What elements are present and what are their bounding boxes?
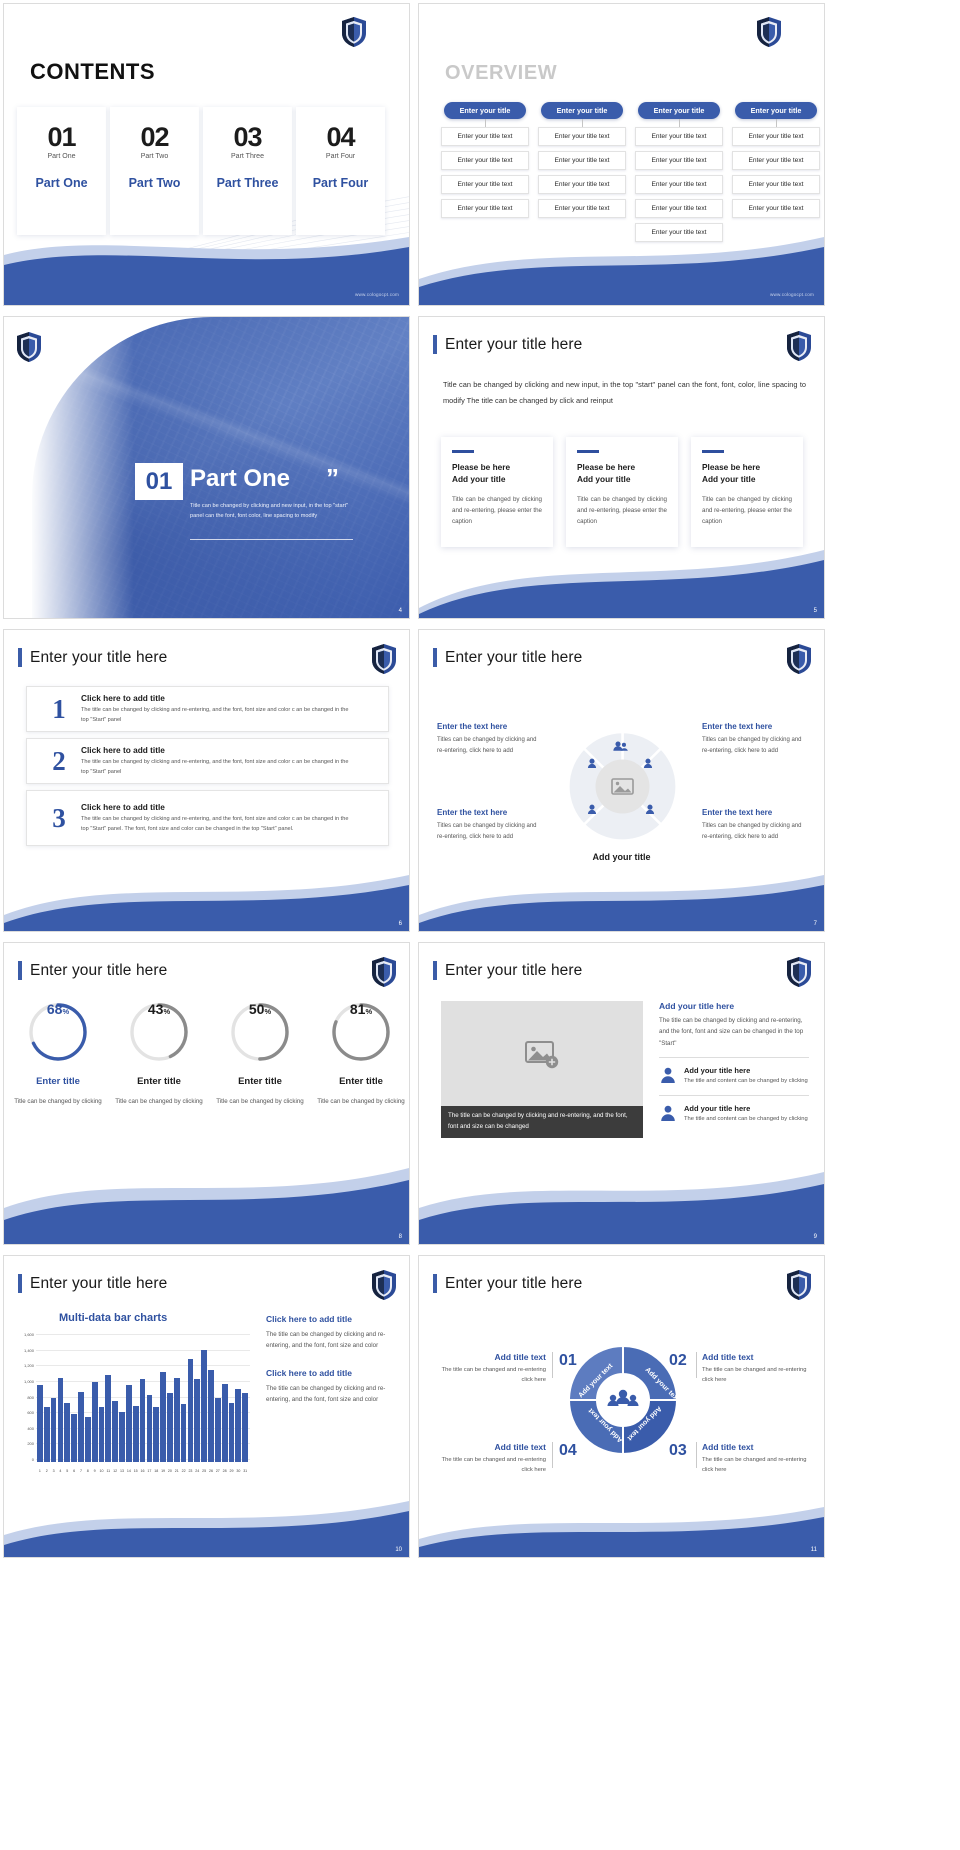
diagram-center-label: Add your title [419,852,824,862]
lead-title: Add your title here [659,1001,809,1011]
item-number: 2 [37,748,81,775]
y-axis-tick: 1,400 [18,1348,34,1353]
card-part-label: Part Two [129,176,181,190]
list-item[interactable]: Add your title hereThe title and content… [659,1066,809,1087]
ring-label: Enter title [339,1076,383,1087]
card-subtitle: Part Two [141,153,169,160]
slide-three-cards[interactable]: Enter your title here Title can be chang… [418,316,825,619]
title-accent-bar [433,1274,437,1293]
bar[interactable] [147,1395,153,1462]
card-subtitle: Part One [47,153,75,160]
y-axis-tick: 400 [18,1426,34,1431]
y-axis-tick: 1,000 [18,1379,34,1384]
y-axis-tick: 800 [18,1395,34,1400]
list-item[interactable]: Add your title hereThe title and content… [659,1104,809,1125]
bar[interactable] [222,1384,228,1462]
ring-value: 81 [350,1001,366,1017]
overview-cell[interactable]: Enter your title text [538,151,626,170]
x-axis-tick: 7 [78,1469,84,1473]
feature-card[interactable]: Please be hereAdd your title Title can b… [441,437,553,547]
progress-ring: 68% [27,1001,89,1063]
x-axis-tick: 25 [201,1469,207,1473]
user-icon [659,1104,677,1122]
y-axis-tick: 0 [18,1457,34,1462]
y-axis-tick: 1,600 [18,1332,34,1337]
ring-item[interactable]: 50% Enter title Title can be changed by … [216,1001,304,1107]
connector-line [776,119,777,127]
x-axis-tick: 5 [64,1469,70,1473]
content-card[interactable]: 01 Part One Part One [17,107,106,235]
slide-numbered-list[interactable]: Enter your title here 1 Click here to ad… [3,629,410,932]
shield-logo-icon [341,16,367,48]
column-title-pill[interactable]: Enter your title [638,102,720,119]
title-text: Enter your title here [30,649,167,667]
overview-cell[interactable]: Enter your title text [635,127,723,146]
wave-decoration [419,1168,824,1244]
card-title-line1: Please be here [702,462,760,472]
page-number: 9 [814,1234,817,1240]
slide-title: Enter your title here [18,648,167,667]
x-axis-tick: 22 [181,1469,187,1473]
item-title: Click here to add title [266,1368,396,1378]
slide-grid: CONTENTS 01 Part One Part One 02 Part Tw… [0,0,960,1562]
title-accent-bar [18,961,22,980]
card-number: 03 [233,124,261,151]
overview-cell[interactable]: Enter your title text [732,151,820,170]
lead-body: The title can be changed by clicking and… [659,1015,809,1049]
x-axis-tick: 23 [188,1469,194,1473]
quadrant-body: Titles can be changed by clicking and re… [437,735,543,757]
slide-title: Enter your title here [433,961,582,980]
image-placeholder-icon [525,1039,559,1069]
x-axis-tick: 4 [58,1469,64,1473]
quadrant-body: Titles can be changed by clicking and re… [702,735,810,757]
quadrant-title: Add title text [441,1442,546,1452]
x-axis-tick: 31 [242,1469,248,1473]
x-axis-tick: 27 [215,1469,221,1473]
x-axis-tick: 21 [174,1469,180,1473]
card-title-line2: Add your title [702,474,755,484]
x-axis-tick: 20 [167,1469,173,1473]
bar[interactable] [153,1407,159,1462]
connector-line [485,119,486,127]
donut-diagram[interactable] [566,730,679,843]
bar[interactable] [160,1372,166,1462]
shield-logo-icon [786,643,812,675]
slide-progress-rings[interactable]: Enter your title here 68% Enter title Ti… [3,942,410,1245]
divider [696,1352,697,1378]
divider [552,1352,553,1378]
content-card[interactable]: 02 Part Two Part Two [110,107,199,235]
quadrant-title: Add title text [702,1352,807,1362]
x-axis-tick: 24 [194,1469,200,1473]
x-axis-tick: 18 [153,1469,159,1473]
wave-decoration [4,1164,409,1244]
right-panel: Add your title here The title can be cha… [659,1001,809,1125]
overview-column: Enter your title Enter your title text E… [732,102,820,242]
item-body: The title can be changed by clicking and… [81,815,357,835]
overview-cell[interactable]: Enter your title text [441,127,529,146]
y-axis-tick: 600 [18,1410,34,1415]
x-axis-tick: 2 [44,1469,50,1473]
quadrant-body: The title can be changed and re-entering… [702,1365,807,1385]
x-axis-tick: 12 [112,1469,118,1473]
ring-label: Enter title [137,1076,181,1087]
wave-decoration [419,227,824,305]
slide-title: Enter your title here [18,1274,167,1293]
card-body: Title can be changed by clicking and re-… [577,494,667,528]
y-axis-tick: 200 [18,1441,34,1446]
page-number: 8 [399,1234,402,1240]
feature-card[interactable]: Please be hereAdd your title Title can b… [566,437,678,547]
item-body: The title and content can be changed by … [684,1115,808,1125]
title-text: Enter your title here [30,962,167,980]
card-part-label: Part Three [217,176,279,190]
bar[interactable] [229,1403,235,1462]
card-title-line1: Please be here [452,462,510,472]
divider [659,1057,809,1058]
quadrant-body: Titles can be changed by clicking and re… [702,821,810,843]
contents-cards: 01 Part One Part One 02 Part Two Part Tw… [17,107,385,235]
ring-row: 68% Enter title Title can be changed by … [14,1001,405,1107]
overview-column: Enter your title Enter your title text E… [635,102,723,242]
card-accent-bar [702,450,724,453]
bar[interactable] [215,1398,221,1462]
page-title: CONTENTS [30,59,155,85]
bar[interactable] [51,1398,57,1462]
overview-cell[interactable]: Enter your title text [732,199,820,218]
shield-logo-icon [756,16,782,48]
shield-logo-icon [786,956,812,988]
underline-rule [190,539,353,540]
ring-body: Title can be changed by clicking [317,1096,404,1107]
overview-cell[interactable]: Enter your title text [635,175,723,194]
x-axis-labels: 1234567891011121314151617181920212223242… [37,1469,248,1473]
page-number: 10 [395,1547,402,1553]
title-text: Enter your title here [445,649,582,667]
item-body: The title and content can be changed by … [684,1077,808,1087]
card-number: 02 [140,124,168,151]
cycle-quadrant-1[interactable]: Add title text The title can be changed … [441,1352,546,1385]
ring-item[interactable]: 43% Enter title Title can be changed by … [115,1001,203,1107]
overview-cell[interactable]: Enter your title text [538,127,626,146]
overview-cell[interactable]: Enter your title text [441,151,529,170]
title-text: Enter your title here [30,1275,167,1293]
wave-decoration [4,869,409,931]
x-axis-tick: 6 [71,1469,77,1473]
overview-cell[interactable]: Enter your title text [732,127,820,146]
progress-ring: 43% [128,1001,190,1063]
quadrant-top-left[interactable]: Enter the text here Titles can be change… [437,722,543,757]
quadrant-title: Enter the text here [702,722,810,731]
bar-series [37,1337,248,1462]
quadrant-top-right[interactable]: Enter the text here Titles can be change… [702,722,810,757]
feature-card[interactable]: Please be hereAdd your title Title can b… [691,437,803,547]
connector-line [679,119,680,127]
overview-cell[interactable]: Enter your title text [635,199,723,218]
item-body: The title can be changed by clicking and… [81,706,357,726]
section-description: Title can be changed by clicking and new… [190,501,355,522]
wave-decoration [419,546,824,618]
item-body: The title can be changed by clicking and… [81,758,357,778]
x-axis-tick: 15 [133,1469,139,1473]
bar[interactable] [188,1359,194,1462]
ring-value: 50 [249,1001,265,1017]
bar-chart[interactable]: 1,6001,4001,2001,00080060040020001234567… [18,1334,250,1474]
bar[interactable] [167,1393,173,1462]
content-card[interactable]: 03 Part Three Part Three [203,107,292,235]
cycle-quadrant-3[interactable]: Add title text The title can be changed … [702,1442,807,1475]
card-number: 04 [326,124,354,151]
overview-cell[interactable]: Enter your title text [538,175,626,194]
card-part-label: Part Four [313,176,369,190]
slide-title: Enter your title here [433,648,582,667]
column-title-pill[interactable]: Enter your title [541,102,623,119]
bar[interactable] [181,1404,187,1462]
slide-title: Enter your title here [433,335,582,354]
x-axis-tick: 28 [222,1469,228,1473]
bar[interactable] [105,1375,111,1463]
cycle-quadrant-4[interactable]: Add title text The title can be changed … [441,1442,546,1475]
ring-suffix: % [264,1007,271,1016]
list-item[interactable]: 3 Click here to add titleThe title can b… [26,790,389,846]
column-cells: Enter your title text Enter your title t… [538,127,626,218]
item-title: Add your title here [684,1066,808,1075]
bar[interactable] [133,1406,139,1462]
page-number: 4 [399,608,402,614]
shield-logo-icon [16,331,42,363]
quadrant-title: Enter the text here [702,808,810,817]
slide-image-list[interactable]: Enter your title here The title can be c… [418,942,825,1245]
x-axis-tick: 3 [51,1469,57,1473]
ring-label: Enter title [238,1076,282,1087]
title-accent-bar [433,961,437,980]
column-title-pill[interactable]: Enter your title [735,102,817,119]
title-accent-bar [18,648,22,667]
ring-body: Title can be changed by clicking [14,1096,101,1107]
progress-ring: 50% [229,1001,291,1063]
ring-suffix: % [163,1007,170,1016]
slide-part-one-cover[interactable]: 01 Part One ” Title can be changed by cl… [3,316,410,619]
quadrant-body: The title can be changed and re-entering… [441,1365,546,1385]
column-cells: Enter your title text Enter your title t… [635,127,723,242]
image-caption: The title can be changed by clicking and… [441,1106,643,1138]
page-number: 5 [814,608,817,614]
x-axis-tick: 8 [85,1469,91,1473]
column-cells: Enter your title text Enter your title t… [732,127,820,218]
quadrant-body: The title can be changed and re-entering… [441,1455,546,1475]
wave-decoration [4,1499,409,1557]
bar[interactable] [126,1385,132,1462]
card-body: Title can be changed by clicking and re-… [452,494,542,528]
x-axis-tick: 29 [229,1469,235,1473]
bar[interactable] [235,1389,241,1462]
x-axis-tick: 9 [92,1469,98,1473]
divider [696,1442,697,1468]
quadrant-title: Add title text [702,1442,807,1452]
overview-column: Enter your title Enter your title text E… [538,102,626,242]
title-text: Enter your title here [445,336,582,354]
card-number: 01 [47,124,75,151]
title-text: Enter your title here [445,1275,582,1293]
slide-bar-chart[interactable]: Enter your title here Multi-data bar cha… [3,1255,410,1558]
cycle-diagram[interactable]: Add your text Add your text Add your tex… [565,1342,681,1458]
bar[interactable] [112,1401,118,1462]
section-title: Part One [190,465,290,493]
shield-logo-icon [371,643,397,675]
title-accent-bar [433,648,437,667]
divider [552,1442,553,1468]
numbered-rows: 1 Click here to add titleThe title can b… [26,686,389,846]
shield-logo-icon [371,956,397,988]
overview-cell[interactable]: Enter your title text [538,199,626,218]
wave-decoration [419,869,824,931]
title-accent-bar [18,1274,22,1293]
divider [659,1095,809,1096]
bar[interactable] [174,1378,180,1462]
page-title: OVERVIEW [445,62,557,85]
quote-mark-icon: ” [326,463,339,494]
ring-body: Title can be changed by clicking [216,1096,303,1107]
card-subtitle: Part Four [326,153,355,160]
ring-suffix: % [365,1007,372,1016]
overview-column: Enter your title Enter your title text E… [441,102,529,242]
overview-cell[interactable]: Enter your title text [441,199,529,218]
bar[interactable] [58,1378,64,1462]
x-axis-tick: 13 [119,1469,125,1473]
right-panel: Click here to add title The title can be… [266,1314,396,1406]
gridline [36,1334,250,1335]
quadrant-bottom-left[interactable]: Enter the text here Titles can be change… [437,808,543,843]
list-item[interactable]: 1 Click here to add titleThe title can b… [26,686,389,732]
column-cells: Enter your title text Enter your title t… [441,127,529,218]
card-subtitle: Part Three [231,153,264,160]
bar[interactable] [37,1385,43,1462]
card-accent-bar [577,450,599,453]
slide-circle-diagram[interactable]: Enter your title here Enter the text her… [418,629,825,932]
overview-cell[interactable]: Enter your title text [441,175,529,194]
slide-title: Enter your title here [18,961,167,980]
y-axis-tick: 1,200 [18,1363,34,1368]
card-accent-bar [452,450,474,453]
item-number: 3 [37,805,81,832]
item-title: Click here to add title [81,693,357,703]
shield-logo-icon [786,330,812,362]
card-body: Title can be changed by clicking and re-… [702,494,792,528]
bar[interactable] [78,1392,84,1462]
intro-paragraph: Title can be changed by clicking and new… [443,377,806,408]
bar[interactable] [242,1393,248,1462]
page-number: 7 [814,921,817,927]
card-title-line1: Please be here [577,462,635,472]
bar[interactable] [44,1407,50,1462]
quadrant-title: Enter the text here [437,808,543,817]
column-title-pill[interactable]: Enter your title [444,102,526,119]
x-axis-tick: 14 [126,1469,132,1473]
title-text: Enter your title here [445,962,582,980]
ring-item[interactable]: 68% Enter title Title can be changed by … [14,1001,102,1107]
ring-label: Enter title [36,1076,80,1087]
image-placeholder[interactable] [441,1001,643,1106]
item-title: Click here to add title [81,802,357,812]
section-number: 01 [146,468,173,496]
section-number-box: 01 [135,463,183,500]
x-axis-tick: 19 [160,1469,166,1473]
ring-item[interactable]: 81% Enter title Title can be changed by … [317,1001,405,1107]
user-icon [659,1066,677,1084]
bar[interactable] [208,1370,214,1462]
footer-url: www.cologocpt.com [355,292,399,297]
slide-contents[interactable]: CONTENTS 01 Part One Part One 02 Part Tw… [3,3,410,306]
x-axis-tick: 30 [235,1469,241,1473]
progress-ring: 81% [330,1001,392,1063]
x-axis-tick: 10 [99,1469,105,1473]
overview-columns: Enter your title Enter your title text E… [441,102,820,242]
quadrant-body: Titles can be changed by clicking and re… [437,821,543,843]
shield-logo-icon [786,1269,812,1301]
x-axis-tick: 11 [105,1469,111,1473]
slide-title: Enter your title here [433,1274,582,1293]
x-axis-tick: 1 [37,1469,43,1473]
bar[interactable] [140,1379,146,1462]
item-body: The title can be changed by clicking and… [266,1383,396,1406]
bar[interactable] [99,1407,105,1462]
bar[interactable] [71,1414,77,1462]
list-item[interactable]: 2 Click here to add titleThe title can b… [26,738,389,784]
bar[interactable] [201,1350,207,1463]
wave-decoration [419,1505,824,1557]
item-title: Click here to add title [266,1314,396,1324]
card-title-line2: Add your title [577,474,630,484]
item-body: The title can be changed by clicking and… [266,1329,396,1352]
overview-cell[interactable]: Enter your title text [635,151,723,170]
ring-value: 43 [148,1001,164,1017]
overview-cell[interactable]: Enter your title text [732,175,820,194]
bar[interactable] [92,1382,98,1462]
content-card[interactable]: 04 Part Four Part Four [296,107,385,235]
card-title-line2: Add your title [452,474,505,484]
bar[interactable] [64,1403,70,1462]
x-axis-tick: 17 [147,1469,153,1473]
ring-body: Title can be changed by clicking [115,1096,202,1107]
quadrant-title: Enter the text here [437,722,543,731]
bar[interactable] [119,1412,125,1462]
card-part-label: Part One [35,176,87,190]
shield-logo-icon [371,1269,397,1301]
connector-line [582,119,583,127]
cycle-quadrant-2[interactable]: Add title text The title can be changed … [702,1352,807,1385]
item-title: Click here to add title [81,745,357,755]
quadrant-bottom-right[interactable]: Enter the text here Titles can be change… [702,808,810,843]
wave-decoration [4,221,409,305]
ring-suffix: % [62,1007,69,1016]
feature-cards: Please be hereAdd your title Title can b… [441,437,803,547]
ring-value: 68 [47,1001,63,1017]
item-number: 1 [37,696,81,723]
bar[interactable] [85,1417,91,1462]
page-number: 11 [811,1547,817,1553]
x-axis-tick: 26 [208,1469,214,1473]
chart-title: Multi-data bar charts [59,1312,167,1324]
slide-cycle-diagram[interactable]: Enter your title here Add title text The… [418,1255,825,1558]
title-accent-bar [433,335,437,354]
quadrant-title: Add title text [441,1352,546,1362]
bar[interactable] [194,1379,200,1462]
page-number: 6 [399,921,402,927]
footer-url: www.cologocpt.com [770,292,814,297]
slide-overview[interactable]: OVERVIEW Enter your title Enter your tit… [418,3,825,306]
item-title: Add your title here [684,1104,808,1113]
